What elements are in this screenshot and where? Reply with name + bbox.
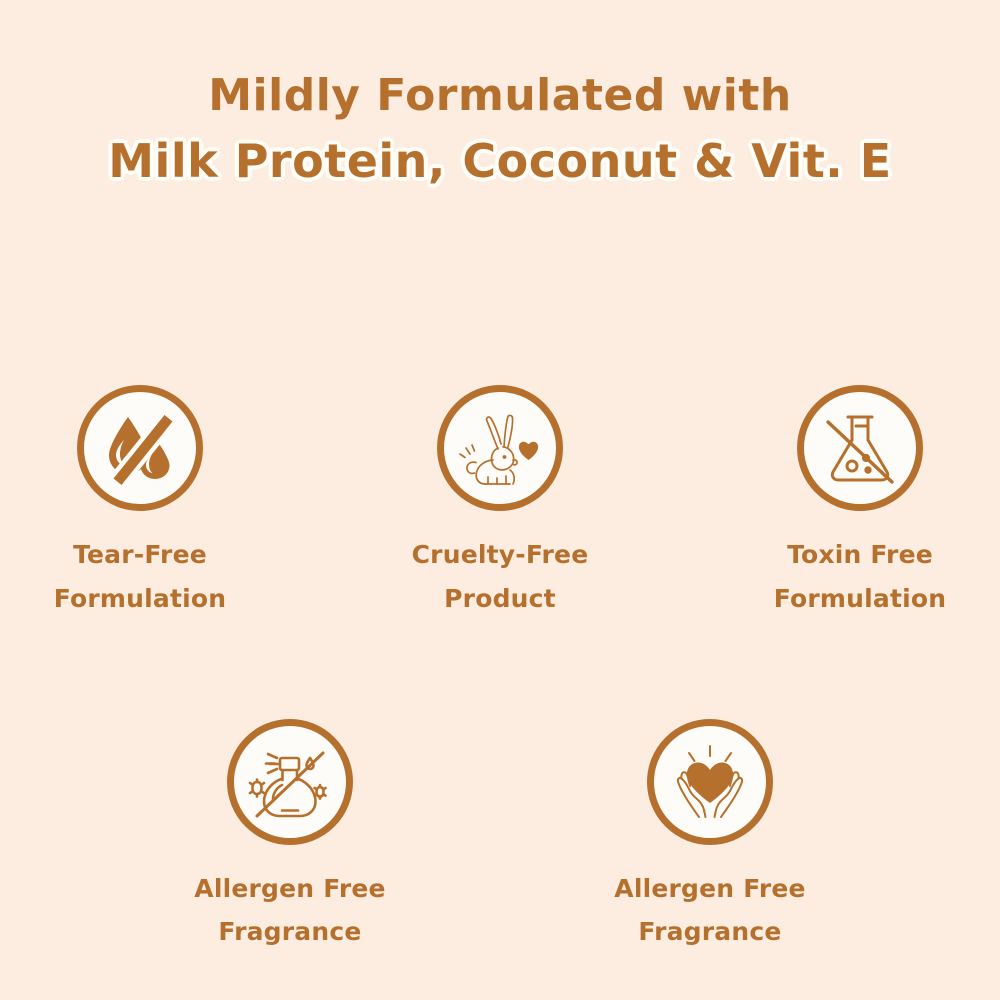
page-title: Mildly Formulated with Milk Protein, Coc… — [0, 74, 1000, 184]
promo-banner: Mildly Formulated with Milk Protein, Coc… — [0, 0, 1000, 1000]
badge-toxin-free[interactable]: Toxin Free Formulation — [760, 385, 960, 621]
badge-allergen-free-fragrance-bottle[interactable]: Allergen Free Fragrance — [190, 719, 390, 955]
badge-cruelty-free[interactable]: Cruelty-Free Product — [400, 385, 600, 621]
benefit-badge-grid: Tear-Free Formulation — [0, 385, 1000, 954]
badge-tear-free[interactable]: Tear-Free Formulation — [40, 385, 240, 621]
headline-line-1: Mildly Formulated with — [0, 74, 1000, 118]
badge-circle — [647, 719, 773, 845]
headline-line-2: Milk Protein, Coconut & Vit. E — [0, 138, 1000, 184]
rabbit-heart-icon — [454, 402, 546, 494]
badge-circle — [797, 385, 923, 511]
badge-label: Toxin Free Formulation — [774, 533, 947, 621]
no-fragrance-bottle-icon — [244, 736, 336, 828]
badge-allergen-free-fragrance-care[interactable]: Allergen Free Fragrance — [610, 719, 810, 955]
benefit-badge-row-top: Tear-Free Formulation — [0, 385, 1000, 621]
badge-circle — [437, 385, 563, 511]
benefit-badge-row-bottom: Allergen Free Fragrance — [0, 719, 1000, 955]
badge-label: Allergen Free Fragrance — [194, 867, 385, 955]
badge-label: Allergen Free Fragrance — [614, 867, 805, 955]
badge-circle — [77, 385, 203, 511]
badge-label: Cruelty-Free Product — [412, 533, 589, 621]
badge-label: Tear-Free Formulation — [54, 533, 227, 621]
badge-circle — [227, 719, 353, 845]
no-chemical-flask-icon — [816, 404, 904, 492]
no-tears-drops-icon — [94, 402, 186, 494]
hands-holding-heart-icon — [665, 737, 755, 827]
